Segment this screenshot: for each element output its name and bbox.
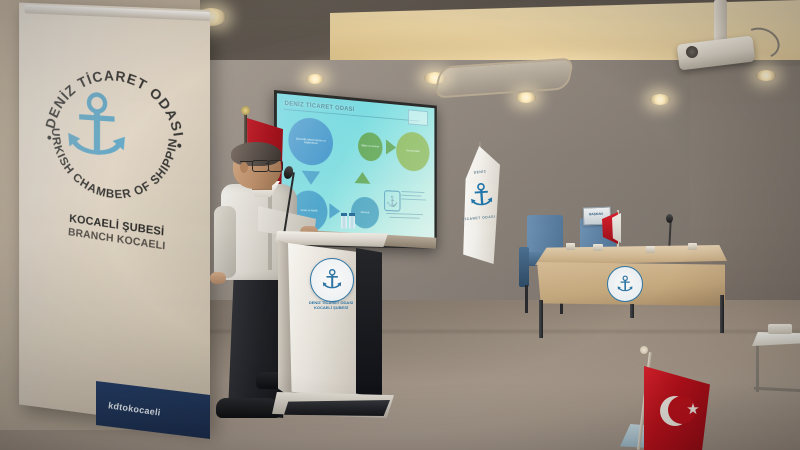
desk-object [646, 246, 655, 253]
projector-mount-arm [714, 0, 727, 44]
table-leg [720, 295, 724, 333]
table-leg [630, 304, 634, 318]
speaker-ear [240, 162, 248, 173]
speaker-left-hand [210, 272, 226, 284]
banner-sheen [19, 3, 210, 430]
desk-object [688, 243, 697, 250]
desk-object [566, 243, 575, 250]
rollup-banner: • DENİZ TİCARET ODASI • TURKISH CHAMBER … [19, 3, 210, 430]
eyeglasses-bridge [266, 163, 269, 164]
side-table-leg [756, 344, 759, 392]
flag-star-icon: ★ [686, 402, 700, 416]
table-leg [539, 300, 543, 338]
speaker-shoe [216, 398, 282, 418]
chamber-flag-anchor-icon: ⚓ [467, 181, 495, 213]
podium-logo-caption: DENİZ TİCARET ODASI KOCAELİ ŞUBESİ [308, 300, 354, 311]
podium-base-plinth [284, 400, 390, 416]
podium-anchor-icon: ⚓ [310, 258, 354, 302]
bottle-cap-icon [349, 213, 355, 216]
desk-microphone-icon [666, 214, 673, 223]
downlight-icon [756, 70, 776, 81]
side-table-object [768, 324, 792, 334]
desk-nameplate-text: BAŞKAN [585, 212, 607, 217]
downlight-icon [516, 92, 536, 103]
photo-scene: DENİZ TİCARET ODASI Denizcilik sektörü t… [0, 0, 800, 450]
podium-dark-band [356, 248, 382, 398]
foreground-flag-finial [640, 346, 648, 354]
chair-leg [525, 285, 528, 313]
bottle-cap-icon [341, 213, 347, 216]
downlight-icon [306, 74, 324, 84]
speaker-left-arm [214, 206, 236, 278]
eyeglasses-icon [268, 160, 283, 172]
desk-object [593, 244, 603, 251]
water-bottle [341, 216, 347, 229]
downlight-icon [650, 94, 670, 105]
flag-pole-finial [241, 106, 250, 115]
water-bottle [349, 216, 355, 229]
eyeglasses-temple [240, 161, 253, 162]
table-anchor-icon: ⚓ [607, 266, 643, 302]
eyeglasses-icon [252, 160, 269, 172]
armchair-arm [519, 247, 529, 287]
